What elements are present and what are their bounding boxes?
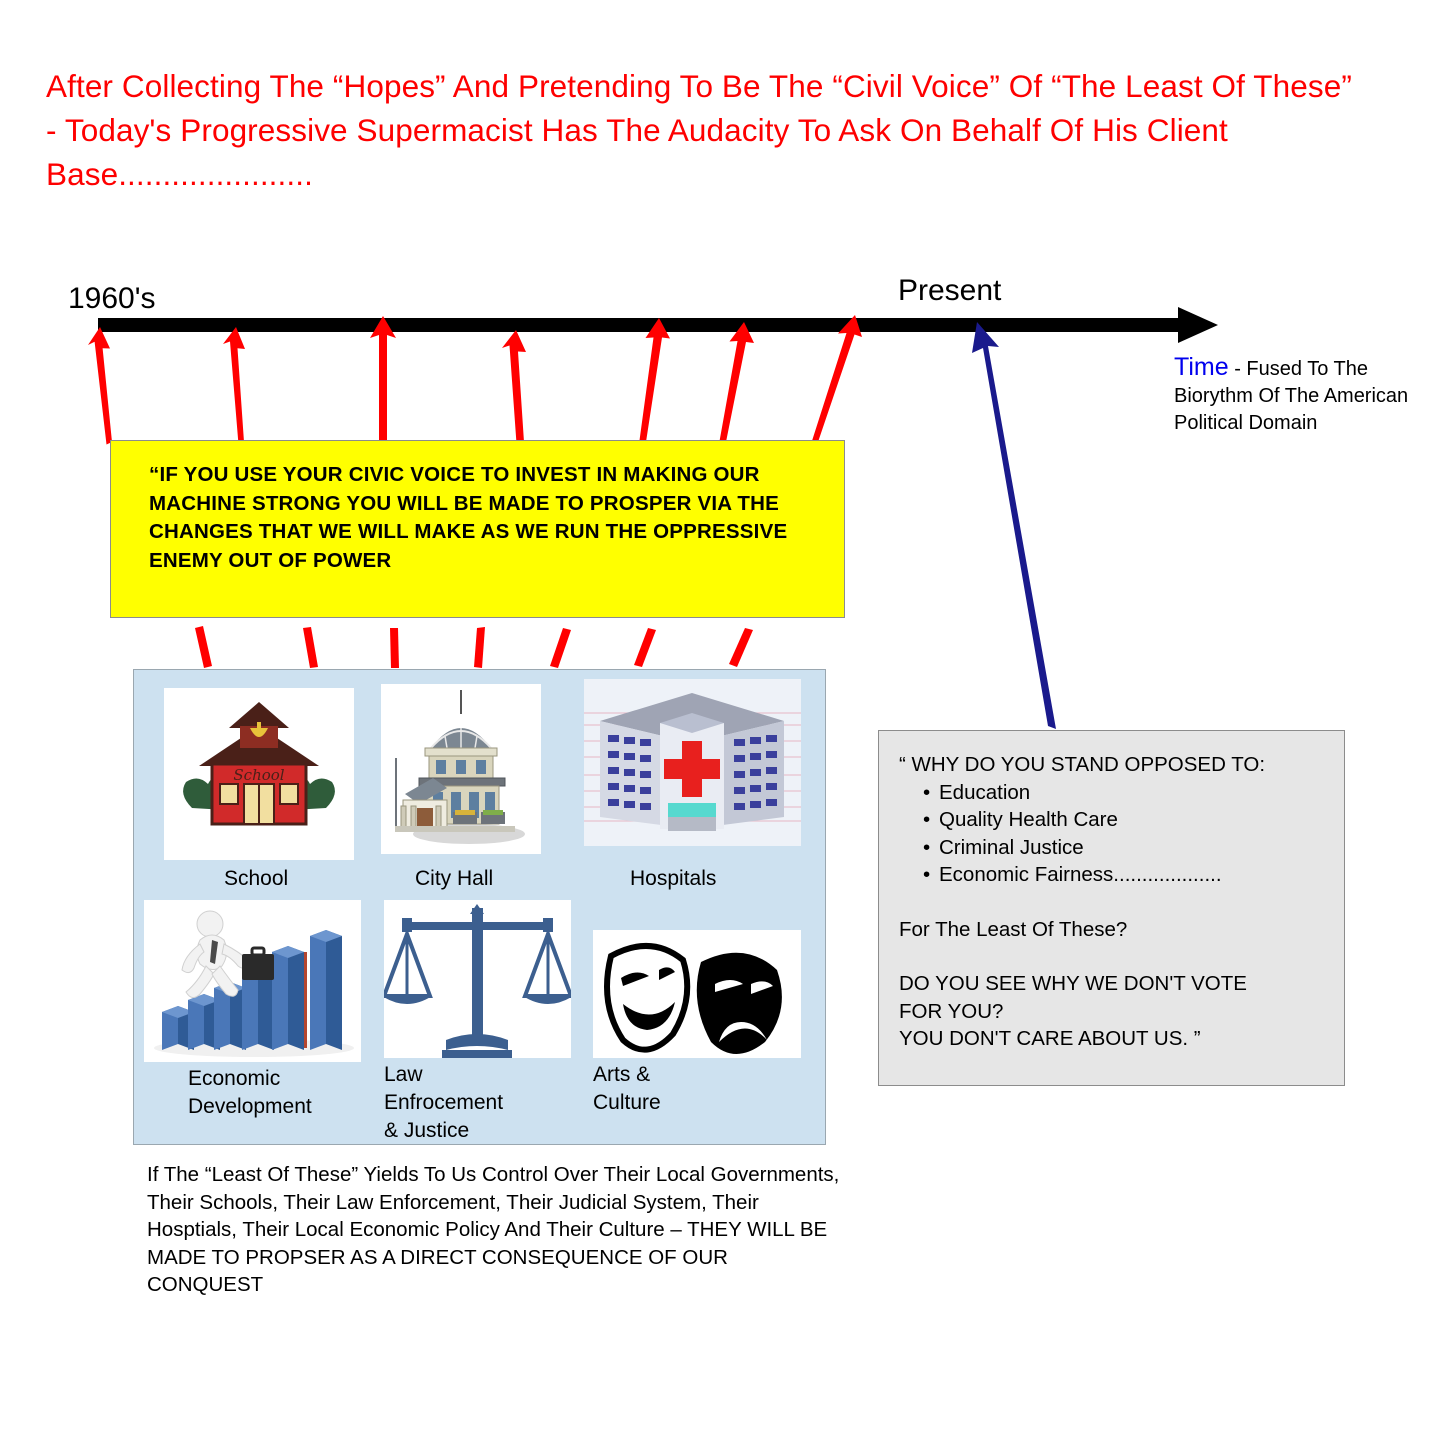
scales-of-justice-icon [384,900,571,1058]
timeline-end-label: Present [898,274,1001,308]
arts-label-line1: Arts & [593,1062,650,1087]
institutions-panel: School School [133,669,826,1145]
economic-development-label-line2: Development [188,1094,312,1119]
present-pointer-arrow [972,322,1056,729]
list-item: Quality Health Care [923,806,1329,834]
law-label-line3: & Justice [384,1118,469,1143]
time-caption: Time - Fused To The Biorythm Of The Amer… [1174,354,1424,437]
list-item: Economic Fairness................... [923,861,1329,889]
hospital-building-icon [584,679,801,846]
school-house-icon: School [164,688,354,860]
law-label-line1: Law [384,1062,423,1087]
theatre-masks-icon [593,930,801,1058]
slide-canvas: After Collecting The “Hopes” And Pretend… [0,0,1440,1440]
school-label: School [224,866,288,891]
list-item: Criminal Justice [923,834,1329,862]
time-word: Time [1174,353,1229,381]
opposition-question-text: “ WHY DO YOU STAND OPPOSED TO: Education… [899,751,1329,1053]
city-hall-building-icon [381,684,541,854]
law-label-line2: Enfrocement [384,1090,503,1115]
spacer-1 [899,889,1329,916]
hospitals-label: Hospitals [630,866,716,891]
gray-heading: “ WHY DO YOU STAND OPPOSED TO: [899,751,1329,779]
promise-quote-text: “IF YOU USE YOUR CIVIC VOICE TO INVEST I… [149,461,809,575]
city-hall-label: City Hall [415,866,493,891]
svg-text:School: School [233,766,284,784]
gray-bullet-list: Education Quality Health Care Criminal J… [899,779,1329,889]
conquest-paragraph: If The “Least Of These” Yields To Us Con… [147,1161,847,1299]
gray-line-for: For The Least Of These? [899,916,1329,944]
red-influence-arrows-upper [88,315,862,445]
timeline-start-label: 1960's [68,282,155,316]
spacer-2 [899,943,1329,970]
economic-development-label-line1: Economic [188,1066,280,1091]
time-axis [98,307,1218,343]
gray-line-q3: YOU DON'T CARE ABOUT US. ” [899,1025,1329,1053]
promise-quote-box: “IF YOU USE YOUR CIVIC VOICE TO INVEST I… [110,440,845,618]
opposition-question-box: “ WHY DO YOU STAND OPPOSED TO: Education… [878,730,1345,1086]
page-title: After Collecting The “Hopes” And Pretend… [46,64,1366,196]
list-item: Education [923,779,1329,807]
growth-bar-chart-icon [144,900,361,1062]
arts-label-line2: Culture [593,1090,661,1115]
gray-line-q1: DO YOU SEE WHY WE DON'T VOTE [899,970,1329,998]
red-influence-arrows-lower [195,626,753,668]
gray-line-q2: FOR YOU? [899,998,1329,1026]
